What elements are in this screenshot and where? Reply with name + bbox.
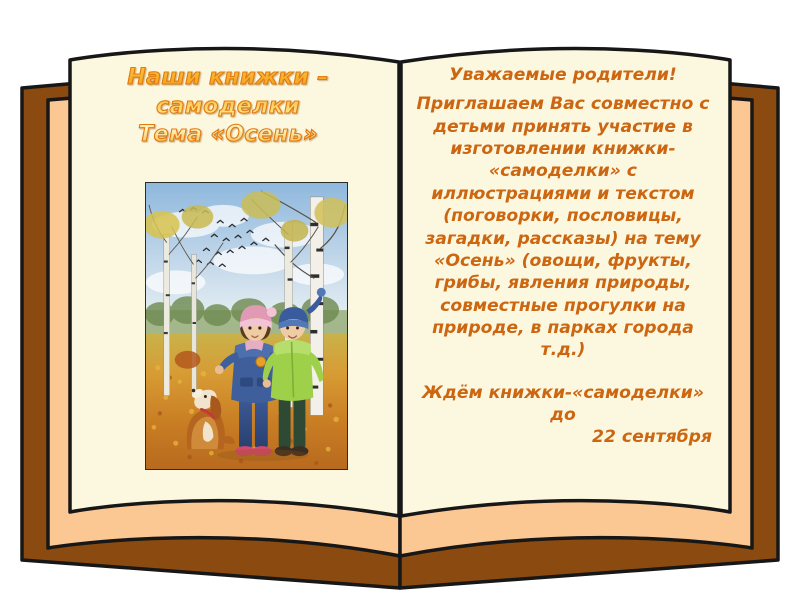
poster-canvas: Наши книжки – самоделки Тема «Осень» (0, 0, 800, 600)
poster-title: Наши книжки – самоделки Тема «Осень» (78, 58, 378, 150)
invitation-line: природе, в парках города т.д.) (408, 317, 718, 362)
ground-shadow (217, 449, 308, 461)
invitation-line: «Осень» (овощи, фрукты, (408, 250, 718, 272)
invitation-line: иллюстрациями и текстом (408, 183, 718, 205)
title-line-3: Тема «Осень» (78, 121, 378, 150)
closing-block: Ждём книжки-«самоделки» до 22 сентября (408, 382, 718, 449)
title-line-1: Наши книжки – (78, 64, 378, 93)
closing-date: 22 сентября (408, 426, 718, 448)
autumn-scene-svg (146, 183, 347, 469)
invitation-line: (поговорки, пословицы, (408, 205, 718, 227)
invitation-line: совместные прогулки на (408, 295, 718, 317)
autumn-children-illustration (145, 182, 348, 470)
closing-line: Ждём книжки-«самоделки» до (408, 382, 718, 427)
bush (175, 351, 201, 369)
invitation-line: изготовлении книжки- (408, 138, 718, 160)
invitation-line: детьми принять участие в (408, 116, 718, 138)
right-page-content: Уважаемые родители! Приглашаем Вас совме… (408, 58, 718, 488)
invitation-line: «самоделки» с (408, 160, 718, 182)
invitation-line: грибы, явления природы, (408, 272, 718, 294)
invitation-text: Приглашаем Вас совместно с детьми принят… (408, 93, 718, 361)
salutation-text: Уважаемые родители! (408, 64, 718, 86)
invitation-line: Приглашаем Вас совместно с (408, 93, 718, 115)
title-line-2: самоделки (78, 93, 378, 122)
invitation-line: загадки, рассказы) на тему (408, 228, 718, 250)
